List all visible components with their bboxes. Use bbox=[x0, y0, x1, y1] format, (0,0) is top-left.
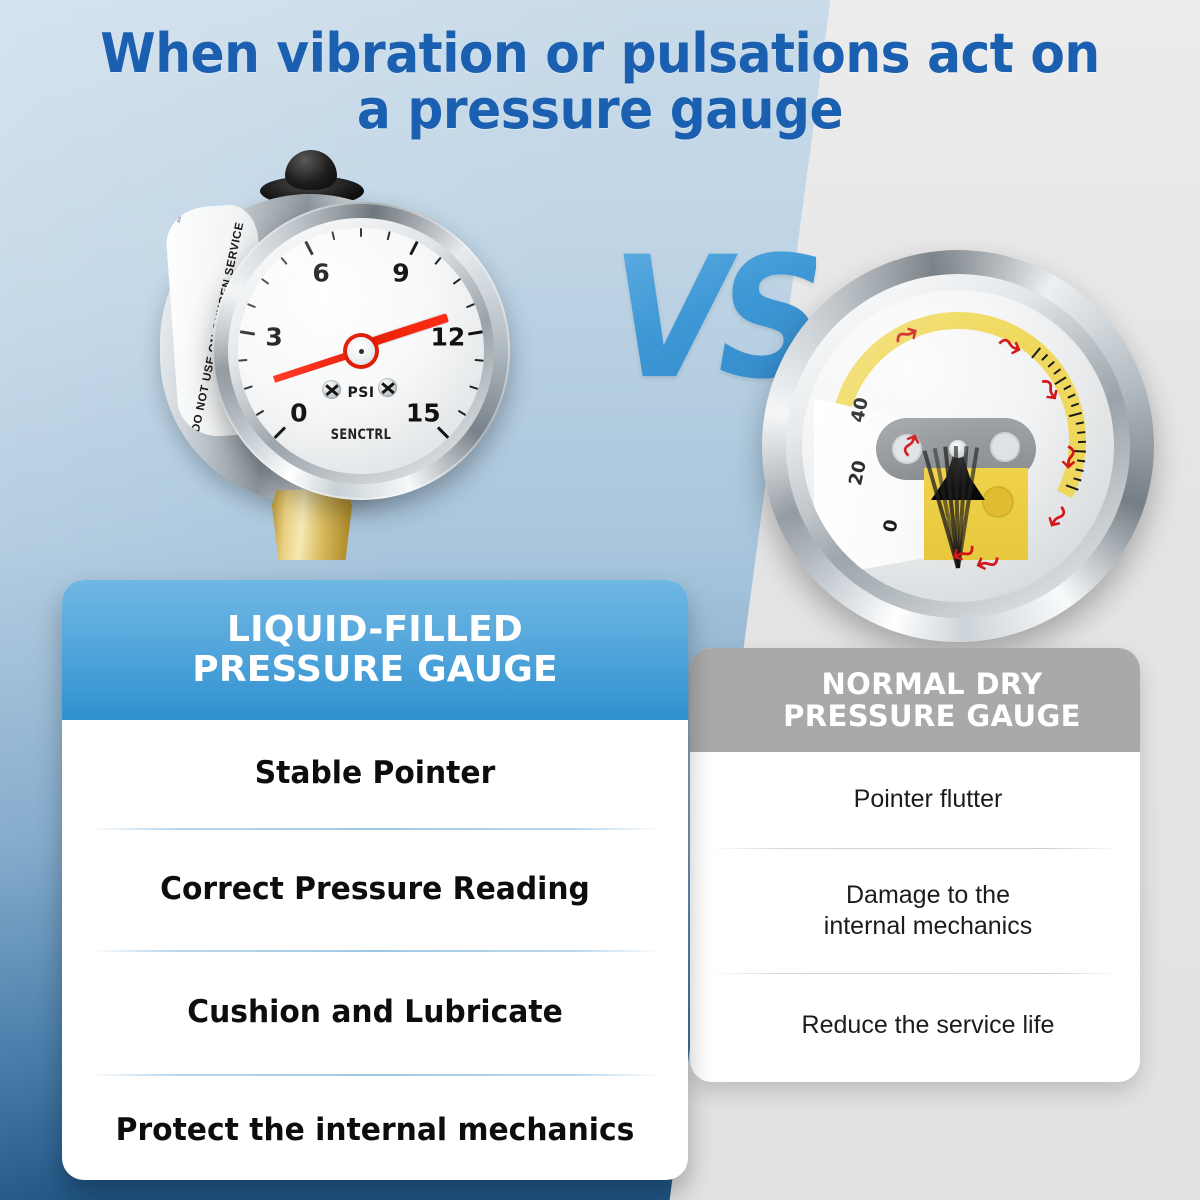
list-item-text: Damage to the internal mechanics bbox=[824, 880, 1032, 943]
list-item: Stable Pointer bbox=[99, 720, 650, 828]
warning-label-fine-print: Do not use this gauge for oxygen service… bbox=[171, 203, 225, 223]
list-item: Damage to the internal mechanics bbox=[708, 849, 1122, 973]
liquid-card-title-line-2: PRESSURE GAUGE bbox=[192, 650, 558, 690]
dial-number: 6 bbox=[312, 258, 329, 287]
gauge-bezel-inner: PSI SENCTRL 03691215 bbox=[228, 218, 494, 484]
dial-brand-label: SENCTRL bbox=[331, 427, 391, 443]
liquid-card-header: LIQUID-FILLED PRESSURE GAUGE bbox=[62, 580, 688, 720]
dry-card-title-line-2: PRESSURE GAUGE bbox=[783, 700, 1081, 732]
dry-gauge-card: NORMAL DRY PRESSURE GAUGE Pointer flutte… bbox=[690, 648, 1140, 1082]
list-item: Cushion and Lubricate bbox=[99, 952, 650, 1074]
dry-gauge-card-header: NORMAL DRY PRESSURE GAUGE bbox=[690, 648, 1140, 752]
title-line-2: a pressure gauge bbox=[42, 82, 1158, 138]
dial-number: 15 bbox=[406, 399, 441, 428]
list-item: Reduce the service life bbox=[708, 974, 1122, 1078]
dry-gauge-feature-list: Pointer flutter Damage to the internal m… bbox=[690, 752, 1140, 1078]
title-line-1: When vibration or pulsations act on bbox=[42, 26, 1158, 82]
list-item: Protect the internal mechanics bbox=[99, 1076, 650, 1180]
list-item: Pointer flutter bbox=[708, 752, 1122, 848]
dry-gauge-image: 02040⤳⤳⤳⤳⤳⤳⤳⤳ bbox=[762, 250, 1154, 642]
gauge-brass-fitting bbox=[272, 490, 352, 560]
dial-minor-tick bbox=[256, 350, 362, 416]
dial-number: 3 bbox=[265, 323, 282, 352]
dial-major-tick bbox=[239, 330, 361, 352]
dial-number: 0 bbox=[290, 399, 307, 428]
liquid-filled-gauge-image: Do not use this gauge for oxygen service… bbox=[152, 150, 512, 600]
list-item: Correct Pressure Reading bbox=[99, 830, 650, 950]
liquid-gauge-feature-list: Stable Pointer Correct Pressure Reading … bbox=[62, 720, 688, 1180]
dial-number: 12 bbox=[431, 323, 466, 352]
liquid-card-title-line-1: LIQUID-FILLED bbox=[192, 610, 558, 650]
gauge-vent-plug-icon bbox=[285, 150, 337, 190]
dial-number: 9 bbox=[392, 258, 409, 287]
gauge-dial-face: PSI SENCTRL 03691215 bbox=[238, 228, 484, 474]
dry-gauge-bezel: 02040⤳⤳⤳⤳⤳⤳⤳⤳ bbox=[762, 250, 1154, 642]
dial-minor-tick bbox=[360, 228, 362, 351]
liquid-filled-gauge-card: LIQUID-FILLED PRESSURE GAUGE Stable Poin… bbox=[62, 580, 688, 1180]
dry-dial-number: 20 bbox=[845, 458, 871, 487]
mechanism-block-hole-right bbox=[982, 486, 1014, 518]
dial-unit-label: PSI bbox=[347, 385, 374, 401]
gauge-bezel: PSI SENCTRL 03691215 bbox=[212, 202, 510, 500]
dry-gauge-bezel-inner: 02040⤳⤳⤳⤳⤳⤳⤳⤳ bbox=[786, 274, 1130, 618]
dry-gauge-dial-face: 02040⤳⤳⤳⤳⤳⤳⤳⤳ bbox=[802, 290, 1114, 602]
vibration-spark-icon: ⤳ bbox=[1055, 444, 1086, 469]
page-title: When vibration or pulsations act on a pr… bbox=[42, 26, 1158, 138]
infographic-canvas: When vibration or pulsations act on a pr… bbox=[0, 0, 1200, 1200]
dry-card-title-line-1: NORMAL DRY bbox=[783, 668, 1081, 700]
